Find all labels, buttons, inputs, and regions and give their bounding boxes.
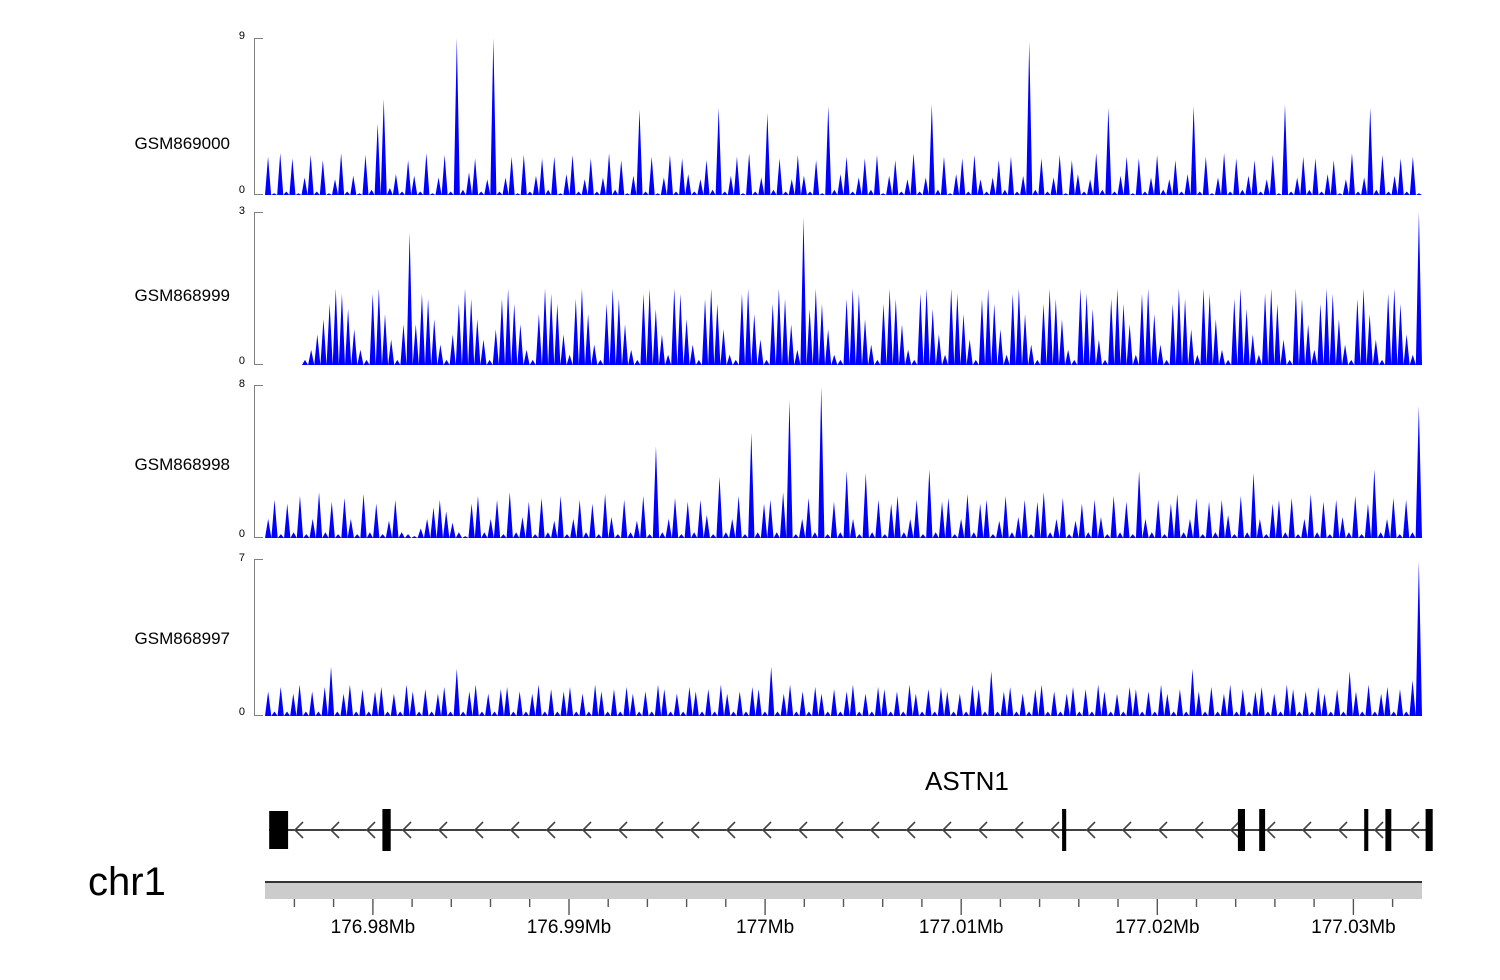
ruler-tick-label: 176.99Mb [527,917,612,939]
exon-block [269,811,288,849]
axis-max-1: 3 [205,206,245,217]
genome-browser: GSM869000 9 0 GSM868999 3 0 GSM868998 8 … [0,0,1500,980]
axis-min-0: 0 [205,185,245,196]
track-label-3: GSM868997 [135,630,230,647]
signal-track-3: GSM868997 7 0 [0,552,1500,720]
coordinate-ruler: 176.98Mb176.99Mb177Mb177.01Mb177.02Mb177… [265,899,1422,969]
exon-block [1062,809,1066,851]
y-axis-bracket-2 [254,385,263,538]
axis-max-2: 8 [205,379,245,390]
signal-plot-0 [265,38,1422,195]
ruler-tick-label: 177.01Mb [919,917,1004,939]
signal-plot-2 [265,385,1422,538]
exon-block [1385,809,1391,851]
ruler-tick-label: 177.03Mb [1311,917,1396,939]
axis-max-0: 9 [205,31,245,42]
gene-model-svg[interactable] [255,805,1435,855]
axis-min-3: 0 [205,707,245,718]
gene-model-track: ASTN1 [0,760,1500,880]
axis-min-1: 0 [205,356,245,367]
track-label-2: GSM868998 [135,456,230,473]
y-axis-bracket-3 [254,559,263,716]
axis-max-3: 7 [205,553,245,564]
y-axis-bracket-1 [254,212,263,365]
exon-block [1364,809,1368,851]
signal-track-1: GSM868999 3 0 [0,205,1500,370]
ruler-tick-marks [294,899,1392,915]
ruler-tick-label: 177.02Mb [1115,917,1200,939]
signal-plot-1 [265,212,1422,365]
track-label-0: GSM869000 [135,135,230,152]
y-axis-bracket-0 [254,38,263,195]
chromosome-label: chr1 [88,862,166,902]
exon-block [382,809,390,851]
ideogram-bar[interactable] [265,881,1422,899]
exon-block [1426,809,1433,851]
signal-track-0: GSM869000 9 0 [0,30,1500,195]
exon-block [1259,809,1265,851]
signal-track-2: GSM868998 8 0 [0,378,1500,543]
signal-plot-3 [265,559,1422,716]
ruler-ticks [265,899,1422,915]
gene-name-label[interactable]: ASTN1 [925,766,1009,797]
exon-block [1238,809,1245,851]
ruler-tick-label: 176.98Mb [331,917,416,939]
ruler-tick-label: 177Mb [736,917,794,939]
axis-min-2: 0 [205,529,245,540]
track-label-1: GSM868999 [135,287,230,304]
